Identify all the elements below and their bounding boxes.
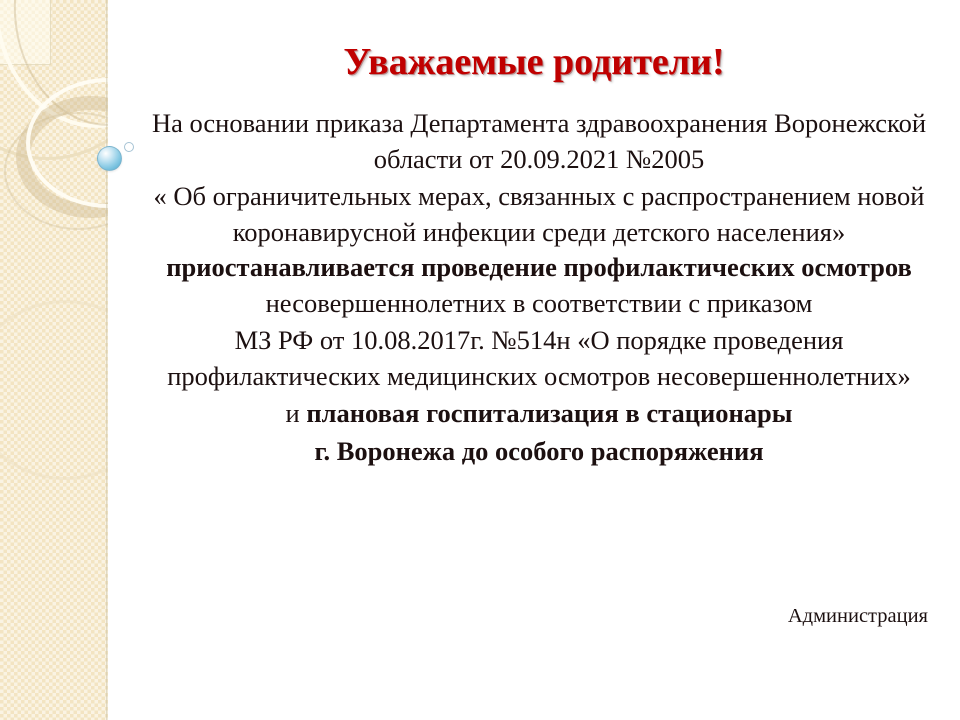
paragraph-2: « Об ограничительных мерах, связанных с …: [144, 179, 934, 321]
paragraph-3-run-1: МЗ РФ от 10.08.2017г. №514н «О порядке п…: [167, 325, 911, 391]
paragraph-1: На основании приказа Департамента здраво…: [144, 106, 934, 177]
paragraph-2-run-3: несовершеннолетних в соответствии с прик…: [266, 288, 813, 318]
page-title: Уважаемые родители!: [108, 43, 960, 81]
slide-content: Уважаемые родители! На основании приказа…: [108, 0, 960, 720]
slide-canvas: Уважаемые родители! На основании приказа…: [0, 0, 960, 720]
paragraph-5-run-1-bold: г. Воронежа до особого распоряжения: [314, 436, 763, 466]
sidebar-arc-bottom-icon: [0, 300, 108, 480]
paragraph-4-run-2-bold: плановая госпитализация в стационары: [306, 398, 792, 428]
paragraph-1-run-1: На основании приказа Департамента здраво…: [152, 108, 926, 174]
paragraph-2-run-2-bold: приостанавливается проведение профилакти…: [166, 252, 912, 282]
paragraph-2-run-1: « Об ограничительных мерах, связанных с …: [154, 181, 925, 247]
paragraph-4-run-1: и: [286, 398, 307, 428]
signature-text: Администрация: [788, 605, 928, 628]
paragraph-3: МЗ РФ от 10.08.2017г. №514н «О порядке п…: [144, 323, 934, 394]
paragraph-5: г. Воронежа до особого распоряжения: [144, 434, 934, 470]
body-text-block: На основании приказа Департамента здраво…: [144, 106, 934, 469]
paragraph-4: и плановая госпитализация в стационары: [144, 396, 934, 432]
decorative-sidebar: [0, 0, 108, 720]
